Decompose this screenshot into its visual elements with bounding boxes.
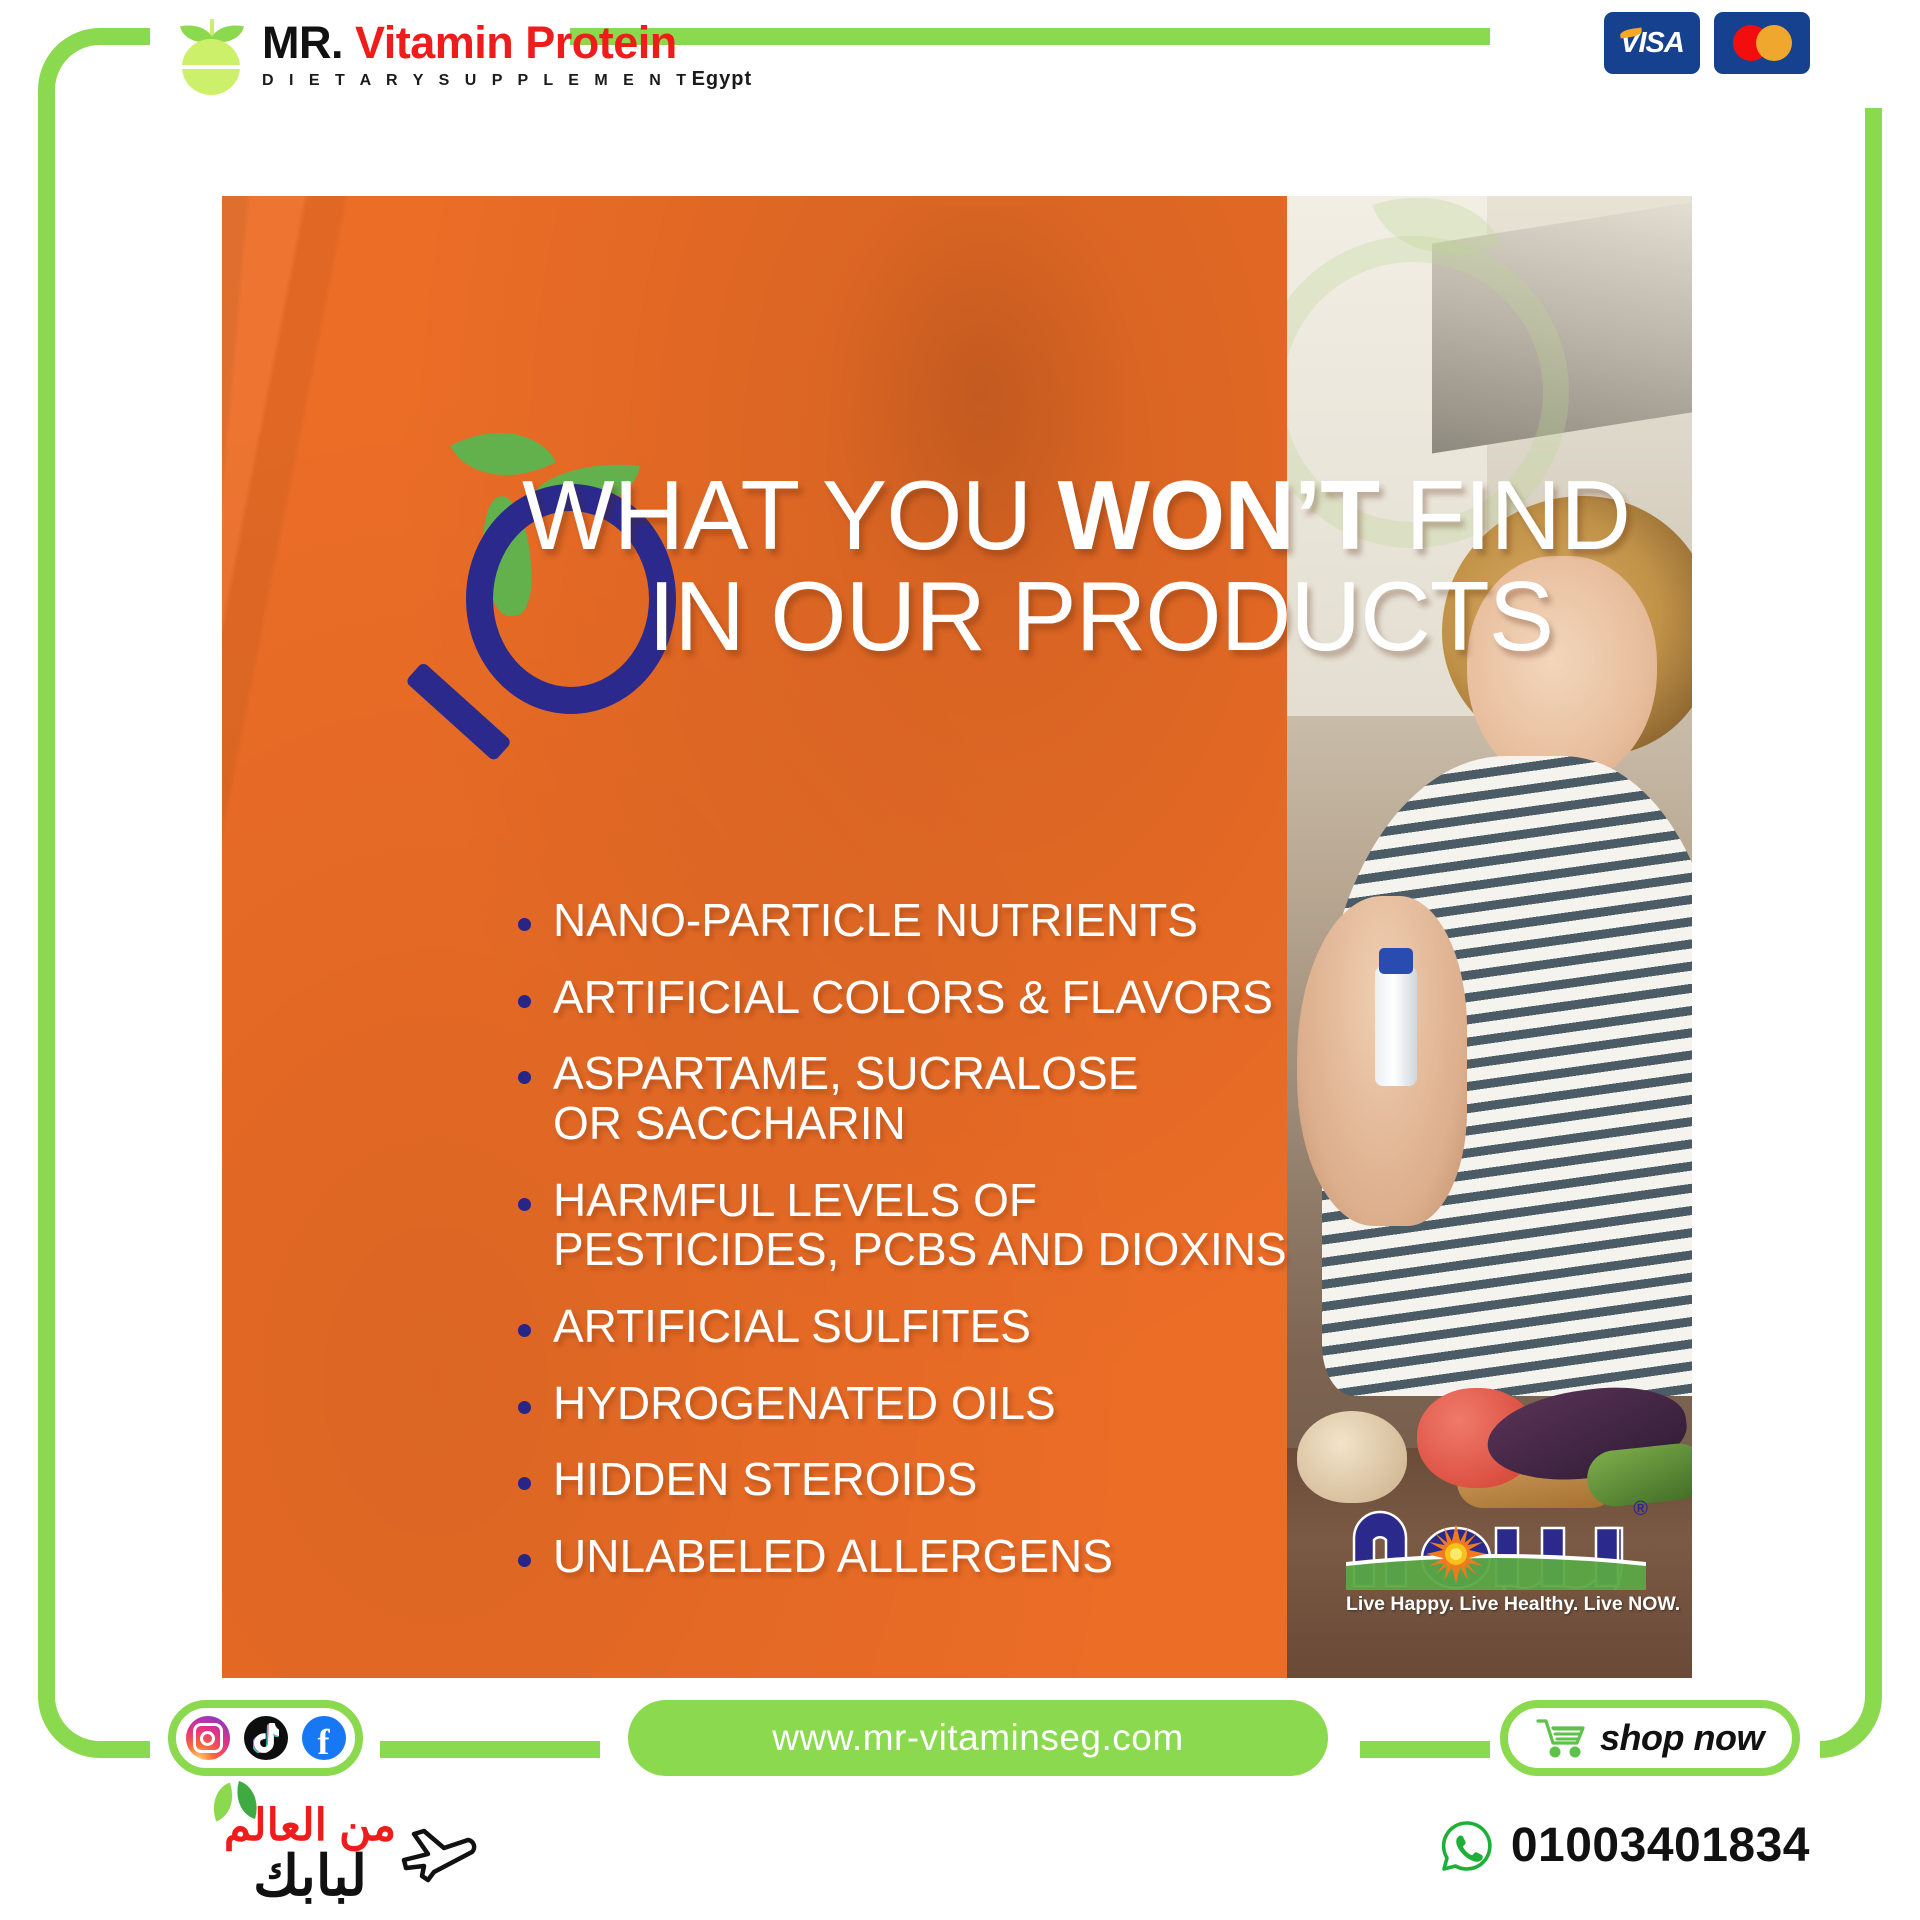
- facebook-icon[interactable]: f: [302, 1716, 346, 1760]
- list-item: ASPARTAME, SUCRALOSEOR SACCHARIN: [518, 1049, 1518, 1148]
- instagram-lens: [200, 1731, 215, 1746]
- brand-name-rest: Vitamin Protein: [355, 17, 677, 68]
- social-links-group: f: [168, 1700, 363, 1776]
- brand-text-block: MR. Vitamin Protein D I E T A R Y S U P …: [262, 18, 752, 91]
- instagram-icon[interactable]: [186, 1716, 230, 1760]
- brand-name-mr: MR.: [262, 17, 343, 68]
- list-item-label: HYDROGENATED OILS: [553, 1379, 1056, 1429]
- poster-canvas: MR. Vitamin Protein D I E T A R Y S U P …: [0, 0, 1920, 1920]
- brand-country: Egypt: [692, 68, 753, 90]
- bullet-dot-icon: [518, 1477, 531, 1490]
- bullet-dot-icon: [518, 1198, 531, 1211]
- whatsapp-contact[interactable]: 01003401834: [1441, 1818, 1810, 1873]
- list-item-label: HIDDEN STEROIDS: [553, 1455, 977, 1505]
- shop-now-button[interactable]: shop now: [1500, 1700, 1800, 1776]
- bullet-dot-icon: [518, 1401, 531, 1414]
- now-logo-tagline: Live Happy. Live Healthy. Live NOW.: [1346, 1593, 1646, 1616]
- apple-divider-line: [182, 65, 240, 69]
- list-item: HIDDEN STEROIDS: [518, 1455, 1518, 1505]
- brand-tagline: D I E T A R Y S U P P L E M E N T: [262, 72, 692, 89]
- headline-part-wont: WON’T: [1058, 460, 1380, 570]
- headline-line-2: IN OUR PRODUCTS: [522, 569, 1652, 664]
- airplane-icon: [398, 1814, 488, 1884]
- list-item-label: HARMFUL LEVELS OFPESTICIDES, PCBS AND DI…: [553, 1176, 1287, 1275]
- bullet-dot-icon: [518, 1324, 531, 1337]
- instagram-glyph: [193, 1723, 223, 1753]
- poster-headline: WHAT YOU WON’T FIND IN OUR PRODUCTS: [522, 468, 1652, 664]
- registered-trademark: ®: [1633, 1498, 1648, 1521]
- website-pill[interactable]: www.mr-vitaminseg.com: [628, 1700, 1328, 1776]
- brand-logo[interactable]: MR. Vitamin Protein D I E T A R Y S U P …: [168, 6, 752, 102]
- visa-card-icon: VISA: [1604, 12, 1700, 74]
- bullet-dot-icon: [518, 1554, 531, 1567]
- list-item-label: NANO-PARTICLE NUTRIENTS: [553, 896, 1198, 946]
- headline-line-1: WHAT YOU WON’T FIND: [522, 468, 1652, 563]
- brand-tagline-row: D I E T A R Y S U P P L E M E N TEgypt: [262, 69, 752, 91]
- promo-panel: WHAT YOU WON’T FIND IN OUR PRODUCTS NANO…: [222, 196, 1692, 1678]
- website-url: www.mr-vitaminseg.com: [772, 1717, 1183, 1759]
- now-wordmark-icon: ®: [1346, 1502, 1646, 1590]
- list-item: ARTIFICIAL COLORS & FLAVORS: [518, 973, 1518, 1023]
- mastercard-yellow-circle: [1756, 25, 1792, 61]
- now-sunburst-icon: [1426, 1524, 1486, 1584]
- bullet-dot-icon: [518, 1071, 531, 1084]
- payment-methods: VISA: [1604, 12, 1810, 74]
- list-item: NANO-PARTICLE NUTRIENTS: [518, 896, 1518, 946]
- mastercard-icon: [1714, 12, 1810, 74]
- list-item: ARTIFICIAL SULFITES: [518, 1302, 1518, 1352]
- bullet-dot-icon: [518, 995, 531, 1008]
- now-foods-logo: ® Live Happy. Live Healthy. Live NOW.: [1346, 1502, 1646, 1616]
- shopping-cart-icon: [1536, 1717, 1588, 1759]
- list-item-label: ARTIFICIAL SULFITES: [553, 1302, 1031, 1352]
- phone-number: 01003401834: [1511, 1818, 1810, 1873]
- arabic-slogan-badge: من العالم لبابك: [160, 1786, 490, 1916]
- tiktok-glyph: [253, 1723, 279, 1753]
- apple-leaf-logo-icon: [168, 11, 254, 97]
- bullet-dot-icon: [518, 918, 531, 931]
- list-item-label: ASPARTAME, SUCRALOSEOR SACCHARIN: [553, 1049, 1138, 1148]
- list-item: HYDROGENATED OILS: [518, 1379, 1518, 1429]
- whatsapp-glyph: [1441, 1820, 1493, 1872]
- brand-name: MR. Vitamin Protein: [262, 18, 752, 68]
- cart-glyph: [1536, 1717, 1588, 1759]
- shop-now-label: shop now: [1600, 1717, 1764, 1759]
- now-wordmark-svg: [1346, 1502, 1646, 1590]
- headline-part-find: FIND: [1379, 460, 1630, 570]
- facebook-glyph: f: [318, 1724, 330, 1760]
- headline-part-what-you: WHAT YOU: [522, 460, 1058, 570]
- list-item-label: ARTIFICIAL COLORS & FLAVORS: [553, 973, 1273, 1023]
- list-item: HARMFUL LEVELS OFPESTICIDES, PCBS AND DI…: [518, 1176, 1518, 1275]
- airplane-glyph: [398, 1814, 488, 1884]
- whatsapp-icon: [1441, 1820, 1493, 1872]
- list-item-label: UNLABELED ALLERGENS: [553, 1532, 1113, 1582]
- tiktok-icon[interactable]: [244, 1716, 288, 1760]
